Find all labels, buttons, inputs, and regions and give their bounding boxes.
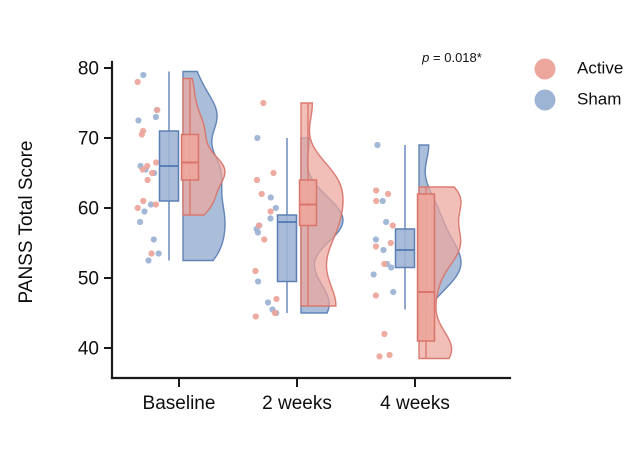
scatter-point xyxy=(386,352,392,358)
scatter-point xyxy=(371,271,377,277)
scatter-point xyxy=(156,250,162,256)
scatter-point xyxy=(267,215,273,221)
raincloud-violin-chart: 4050607080 Baseline2 weeks4 weeks PANSS … xyxy=(0,0,640,454)
scatter-point xyxy=(252,268,258,274)
y-tick-label: 80 xyxy=(78,59,99,80)
y-tick-label: 50 xyxy=(78,269,99,290)
scatter-point xyxy=(273,205,279,211)
scatter-point xyxy=(149,170,155,176)
scatter-point xyxy=(153,201,159,207)
scatter-point xyxy=(390,289,396,295)
scatter-point xyxy=(256,222,262,228)
scatter-point xyxy=(139,131,145,137)
active-box xyxy=(182,135,199,181)
y-tick-label: 70 xyxy=(78,129,99,150)
scatter-point xyxy=(259,191,265,197)
scatter-point xyxy=(268,194,274,200)
sham-box xyxy=(396,229,415,268)
sham-box xyxy=(278,215,297,282)
scatter-point xyxy=(260,100,266,106)
scatter-point xyxy=(153,159,159,165)
scatter-point xyxy=(135,205,141,211)
scatter-point xyxy=(373,292,379,298)
x-tick-label: Baseline xyxy=(143,393,216,414)
scatter-point xyxy=(135,117,141,123)
scatter-point xyxy=(140,198,146,204)
scatter-point xyxy=(373,198,379,204)
scatter-point xyxy=(390,222,396,228)
scatter-point xyxy=(374,142,380,148)
x-tick-label: 2 weeks xyxy=(262,393,332,414)
scatter-point xyxy=(381,261,387,267)
p-value-annotation: p = 0.018* xyxy=(421,50,482,65)
x-tick-label: 4 weeks xyxy=(380,393,450,414)
scatter-point xyxy=(388,240,394,246)
active-box xyxy=(300,180,317,226)
scatter-point xyxy=(154,107,160,113)
scatter-point xyxy=(272,310,278,316)
legend-label-sham: Sham xyxy=(577,89,621,108)
y-tick-label: 60 xyxy=(78,199,99,220)
legend-swatch-sham xyxy=(535,90,556,111)
scatter-point xyxy=(380,247,386,253)
scatter-point xyxy=(267,208,273,214)
scatter-point xyxy=(254,135,260,141)
scatter-point xyxy=(140,72,146,78)
scatter-point xyxy=(253,313,259,319)
scatter-point xyxy=(273,296,279,302)
scatter-point xyxy=(270,170,276,176)
scatter-point xyxy=(373,243,379,249)
scatter-point xyxy=(151,236,157,242)
scatter-point xyxy=(148,250,154,256)
scatter-point xyxy=(388,264,394,270)
scatter-point xyxy=(145,177,151,183)
scatter-point xyxy=(141,208,147,214)
scatter-point xyxy=(383,219,389,225)
chart-figure: 4050607080 Baseline2 weeks4 weeks PANSS … xyxy=(0,0,640,454)
scatter-point xyxy=(255,278,261,284)
scatter-point xyxy=(145,257,151,263)
scatter-point xyxy=(373,236,379,242)
scatter-point xyxy=(153,114,159,120)
y-tick-label: 40 xyxy=(78,339,99,360)
scatter-point xyxy=(381,331,387,337)
scatter-point xyxy=(254,177,260,183)
active-box xyxy=(418,194,435,341)
scatter-point xyxy=(137,219,143,225)
scatter-point xyxy=(385,191,391,197)
scatter-point xyxy=(140,166,146,172)
scatter-point xyxy=(380,198,386,204)
y-axis-title: PANSS Total Score xyxy=(16,141,37,304)
legend-label-active: Active xyxy=(577,58,623,77)
scatter-point xyxy=(255,229,261,235)
scatter-point xyxy=(373,187,379,193)
legend-swatch-active xyxy=(535,59,556,80)
scatter-point xyxy=(135,79,141,85)
scatter-point xyxy=(265,299,271,305)
scatter-point xyxy=(261,236,267,242)
scatter-point xyxy=(376,353,382,359)
